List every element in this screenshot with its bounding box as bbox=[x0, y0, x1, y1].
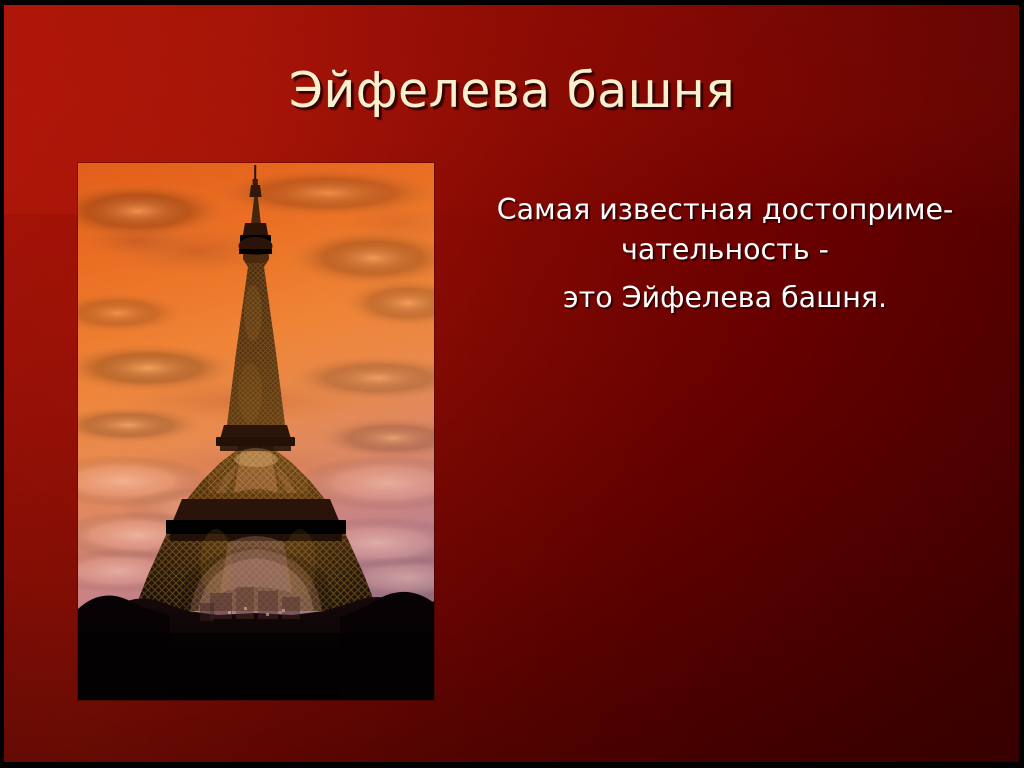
slide-title: Эйфелева башня bbox=[62, 62, 962, 120]
eiffel-tower-photo bbox=[78, 163, 434, 700]
presentation-slide: Эйфелева башня Самая известная достоприм… bbox=[0, 0, 1024, 768]
body-paragraph-2: это Эйфелева башня. bbox=[455, 278, 995, 318]
body-paragraph-1: Самая известная достоприме-чательность - bbox=[455, 190, 995, 270]
slide-body-text: Самая известная достоприме-чательность -… bbox=[455, 190, 995, 318]
